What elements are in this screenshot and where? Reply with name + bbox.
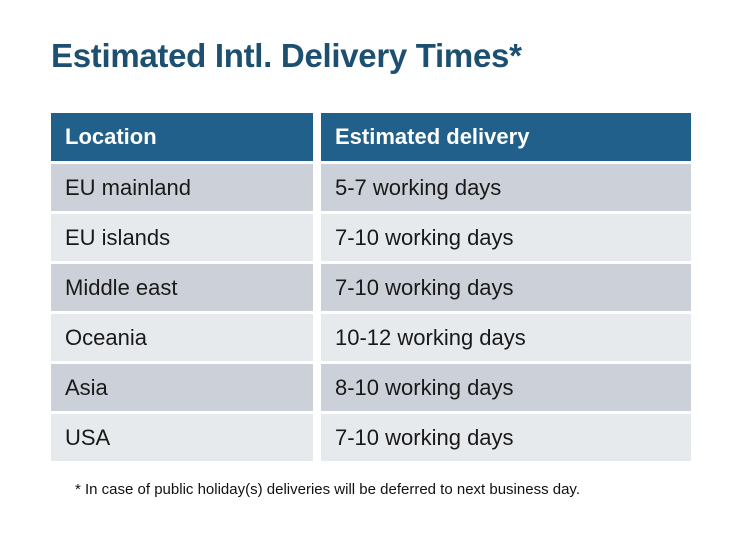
cell-location: EU mainland [51, 164, 313, 211]
column-gap [313, 113, 321, 161]
cell-location: EU islands [51, 214, 313, 261]
cell-location: Middle east [51, 264, 313, 311]
cell-delivery: 7-10 working days [321, 264, 691, 311]
cell-delivery: 5-7 working days [321, 164, 691, 211]
table-row: EU islands 7-10 working days [51, 214, 691, 261]
cell-location: USA [51, 414, 313, 461]
table-row: Oceania 10-12 working days [51, 314, 691, 361]
column-header-location: Location [51, 113, 313, 161]
cell-location: Oceania [51, 314, 313, 361]
column-gap [313, 164, 321, 211]
table-row: USA 7-10 working days [51, 414, 691, 461]
column-gap [313, 364, 321, 411]
delivery-times-page: Estimated Intl. Delivery Times* Location… [0, 0, 745, 536]
table-row: Middle east 7-10 working days [51, 264, 691, 311]
column-gap [313, 264, 321, 311]
cell-delivery: 7-10 working days [321, 414, 691, 461]
page-title: Estimated Intl. Delivery Times* [51, 36, 522, 76]
column-gap [313, 414, 321, 461]
column-gap [313, 214, 321, 261]
table-header-row: Location Estimated delivery [51, 113, 691, 161]
column-header-estimated-delivery: Estimated delivery [321, 113, 691, 161]
cell-delivery: 8-10 working days [321, 364, 691, 411]
table-row: EU mainland 5-7 working days [51, 164, 691, 211]
column-gap [313, 314, 321, 361]
table-row: Asia 8-10 working days [51, 364, 691, 411]
estimated-delivery-times-table: Location Estimated delivery EU mainland … [51, 113, 691, 461]
footnote-public-holiday: * In case of public holiday(s) deliverie… [75, 481, 580, 498]
cell-delivery: 10-12 working days [321, 314, 691, 361]
cell-location: Asia [51, 364, 313, 411]
cell-delivery: 7-10 working days [321, 214, 691, 261]
